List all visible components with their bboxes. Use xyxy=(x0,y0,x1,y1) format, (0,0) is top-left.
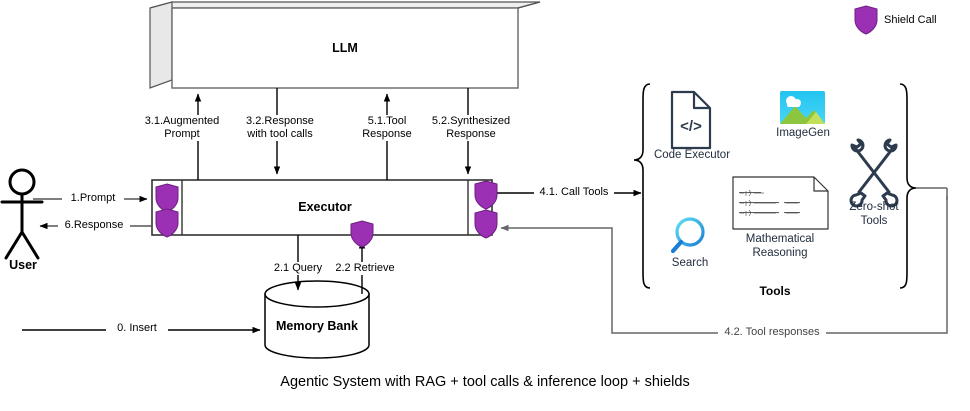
edge-label-retrieve: 2.2 Retrieve xyxy=(330,262,400,275)
edge-label-prompt: 1.Prompt xyxy=(62,192,124,205)
edge-label-tool-responses: 4.2. Tool responses xyxy=(718,326,826,339)
tool-label-code-executor: Code Executor xyxy=(648,148,736,162)
math-document-icon[interactable] xyxy=(733,177,828,229)
diagram-caption: Agentic System with RAG + tool calls & i… xyxy=(0,374,970,390)
edge-label-query: 2.1 Query xyxy=(268,262,328,275)
diagram-canvas: </> xyxy=(0,0,970,411)
tool-label-imagegen: ImageGen xyxy=(768,126,838,140)
edge-label-tool-response: 5.1.Tool Response xyxy=(350,115,424,141)
edge-label-response-with-tool-calls: 3.2.Response with tool calls xyxy=(236,115,324,141)
tool-label-zero-shot-tools: Zero-shot Tools xyxy=(840,200,908,228)
edge-label-call-tools: 4.1. Call Tools xyxy=(534,186,614,199)
edge-label-augmented-prompt: 3.1.Augmented Prompt xyxy=(144,115,220,141)
edge-label-response: 6.Response xyxy=(58,219,130,232)
image-gen-icon[interactable] xyxy=(780,91,825,124)
user-node[interactable] xyxy=(2,170,42,258)
svg-text:</>: </> xyxy=(680,118,702,135)
tools-brace-left xyxy=(634,84,650,288)
tool-label-mathematical-reasoning: Mathematical Reasoning xyxy=(730,232,830,260)
tools-brace-right xyxy=(900,84,916,288)
memory-bank-label: Memory Bank xyxy=(265,319,369,333)
tool-label-search: Search xyxy=(660,256,720,270)
shield-icon-legend xyxy=(855,6,877,34)
edge-label-synthesized-response: 5.2.Synthesized Response xyxy=(426,115,516,141)
diagram-vector-layer: </> xyxy=(0,0,970,411)
edge-label-insert: 0. Insert xyxy=(106,322,168,335)
tools-group-label: Tools xyxy=(720,284,830,298)
shield-icon-executor-memory[interactable] xyxy=(351,221,373,247)
crossed-wrenches-icon[interactable] xyxy=(851,140,897,206)
llm-label: LLM xyxy=(172,41,518,55)
executor-label: Executor xyxy=(182,200,468,214)
code-document-icon[interactable]: </> xyxy=(672,92,710,148)
legend-shield-label: Shield Call xyxy=(884,14,937,26)
user-label: User xyxy=(0,258,46,272)
magnifier-icon[interactable] xyxy=(673,219,703,251)
